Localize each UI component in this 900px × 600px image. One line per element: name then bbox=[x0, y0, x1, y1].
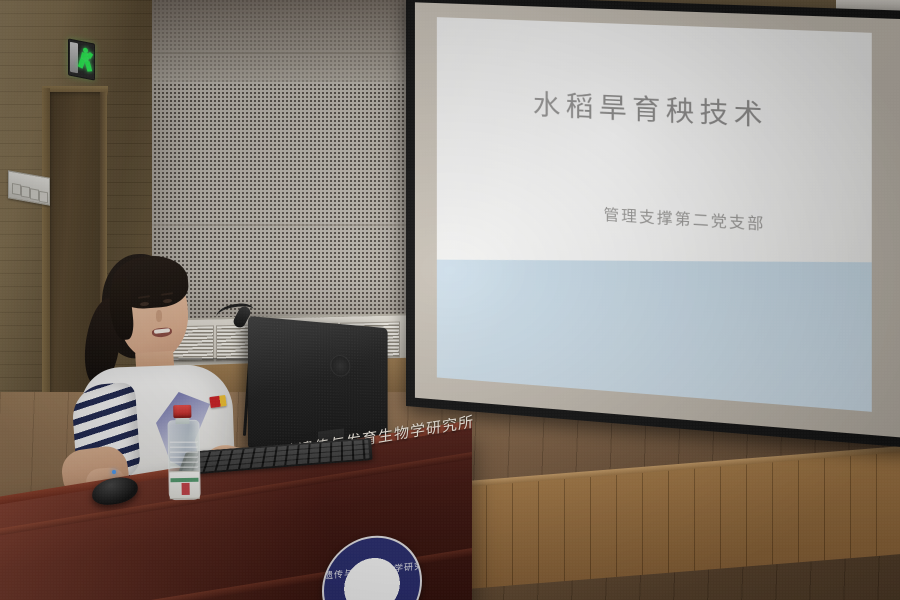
bottle-label bbox=[169, 471, 199, 500]
screen-border: 水稻旱育秧技术 管理支撑第二党支部 bbox=[415, 2, 900, 437]
switch-1[interactable] bbox=[12, 183, 21, 196]
bottle-cap bbox=[173, 405, 191, 418]
running-person-icon bbox=[79, 47, 92, 75]
switch-4[interactable] bbox=[39, 191, 48, 204]
exit-sign-plate bbox=[70, 42, 78, 74]
bottle-body bbox=[167, 420, 200, 501]
projection-screen: 水稻旱育秧技术 管理支撑第二党支部 bbox=[406, 0, 900, 448]
water-bottle bbox=[167, 404, 199, 501]
emblem-text: 遗传与发育生物学研究所 bbox=[324, 559, 420, 582]
screen-surface: 水稻旱育秧技术 管理支撑第二党支部 bbox=[437, 17, 872, 412]
panel-seam bbox=[150, 52, 412, 54]
bottle-label-red bbox=[182, 483, 190, 495]
switch-2[interactable] bbox=[21, 186, 30, 199]
monitor-logo bbox=[330, 354, 350, 377]
panel-seam-lower bbox=[150, 224, 412, 226]
nose bbox=[156, 310, 162, 322]
acoustic-panel-shadow bbox=[150, 0, 412, 82]
bottle-label-green bbox=[170, 478, 198, 482]
switch-3[interactable] bbox=[30, 188, 39, 201]
flag-pin bbox=[209, 395, 226, 408]
emergency-exit-sign bbox=[68, 38, 95, 80]
keyboard-led bbox=[112, 470, 116, 474]
bottle-ribs bbox=[170, 439, 199, 473]
presentation-photo-scene: 水稻旱育秧技术 管理支撑第二党支部 bbox=[0, 0, 900, 600]
